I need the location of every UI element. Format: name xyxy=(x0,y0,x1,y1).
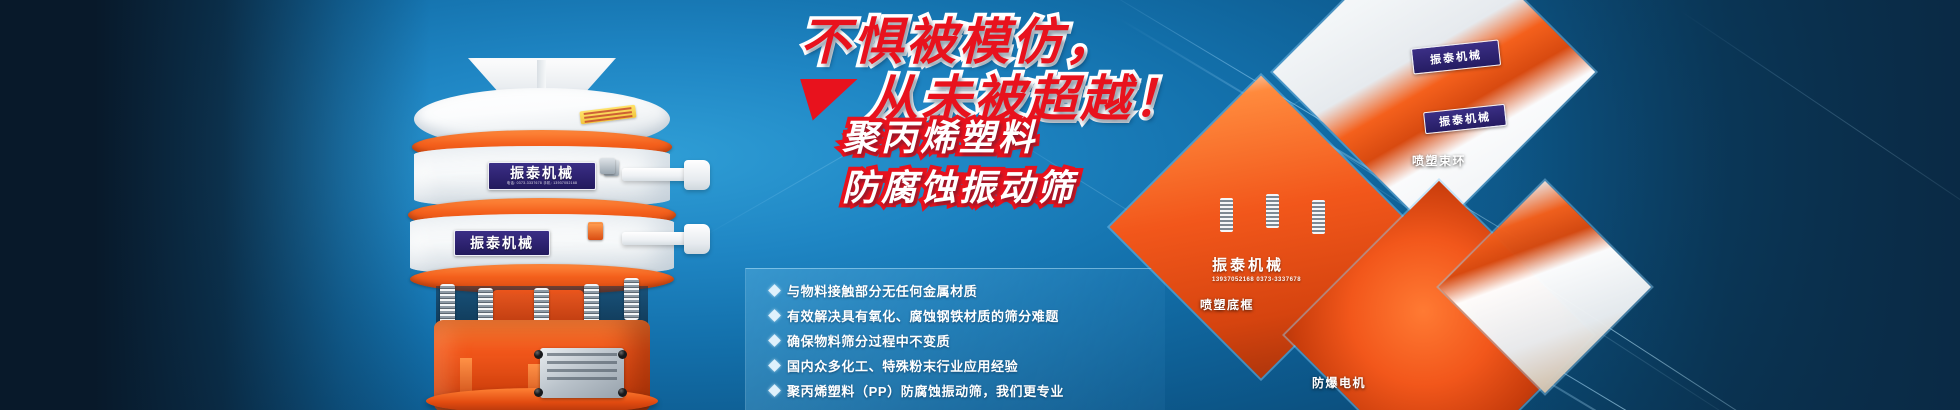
list-item: 有效解决具有氧化、腐蚀钢铁材质的筛分难题 xyxy=(770,306,1165,325)
diamond-bullet-icon xyxy=(768,309,781,322)
collage-orange-phone: 13937052168 0373-3337678 xyxy=(1212,277,1301,283)
subtitle-line-1: 聚丙烯塑料 xyxy=(842,120,1076,156)
brand-label-text-2: 振泰机械 xyxy=(470,236,534,250)
subtitle-line-2: 防腐蚀振动筛 xyxy=(842,170,1076,206)
product-bolt xyxy=(534,388,543,397)
product-nameplate xyxy=(540,348,624,398)
diamond-bullet-icon xyxy=(768,284,781,297)
product-bolt xyxy=(618,350,627,359)
collage-spring xyxy=(1266,194,1279,228)
product-bolt xyxy=(534,350,543,359)
collage-caption-spray-ring: 喷塑束环 xyxy=(1412,152,1466,169)
red-triangle-flag-icon xyxy=(800,79,858,121)
brand-label-contact: 电话: 0373-3337678 手机: 13937052168 xyxy=(507,182,578,185)
product-detail-collage: 振泰机械 振泰机械 喷塑束环 振泰机械 13937052168 0373-333… xyxy=(1140,0,1700,410)
product-spring xyxy=(624,278,639,320)
feature-list-panel: 与物料接触部分无任何金属材质 有效解决具有氧化、腐蚀钢铁材质的筛分难题 确保物料… xyxy=(745,268,1165,410)
collage-spring xyxy=(1220,198,1233,232)
feature-text: 国内众多化工、特殊粉末行业应用经验 xyxy=(787,356,1018,375)
collage-caption-spray-frame: 喷塑底框 xyxy=(1200,296,1254,313)
feature-text: 确保物料筛分过程中不变质 xyxy=(787,331,950,350)
product-discharge-spouts xyxy=(622,162,732,292)
product-vibrating-sieve: 振泰机械 电话: 0373-3337678 手机: 13937052168 振泰… xyxy=(392,58,692,388)
diamond-bullet-icon xyxy=(768,384,781,397)
collage-caption-motor: 防爆电机 xyxy=(1312,374,1366,391)
list-item: 确保物料筛分过程中不变质 xyxy=(770,331,1165,350)
list-item: 与物料接触部分无任何金属材质 xyxy=(770,281,1165,300)
promo-banner: 振泰机械 电话: 0373-3337678 手机: 13937052168 振泰… xyxy=(0,0,1960,410)
feature-text: 有效解决具有氧化、腐蚀钢铁材质的筛分难题 xyxy=(787,306,1059,325)
product-brand-label-primary: 振泰机械 电话: 0373-3337678 手机: 13937052168 xyxy=(488,162,596,190)
brand-label-text: 振泰机械 xyxy=(510,166,574,180)
diamond-bullet-icon xyxy=(768,359,781,372)
feature-text: 聚丙烯塑料（PP）防腐蚀振动筛，我们更专业 xyxy=(787,381,1064,400)
collage-spring xyxy=(1312,200,1325,234)
product-brand-label-secondary: 振泰机械 xyxy=(454,230,550,256)
list-item: 国内众多化工、特殊粉末行业应用经验 xyxy=(770,356,1165,375)
product-bolt xyxy=(618,388,627,397)
product-latch-1 xyxy=(600,158,615,174)
collage-orange-brand-text: 振泰机械 13937052168 0373-3337678 xyxy=(1212,254,1301,283)
feature-text: 与物料接触部分无任何金属材质 xyxy=(787,281,977,300)
list-item: 聚丙烯塑料（PP）防腐蚀振动筛，我们更专业 xyxy=(770,381,1165,400)
subtitle-block: 聚丙烯塑料 防腐蚀振动筛 xyxy=(842,120,1076,220)
diamond-bullet-icon xyxy=(768,334,781,347)
product-latch-2 xyxy=(588,224,603,240)
collage-orange-brand: 振泰机械 xyxy=(1212,257,1284,274)
